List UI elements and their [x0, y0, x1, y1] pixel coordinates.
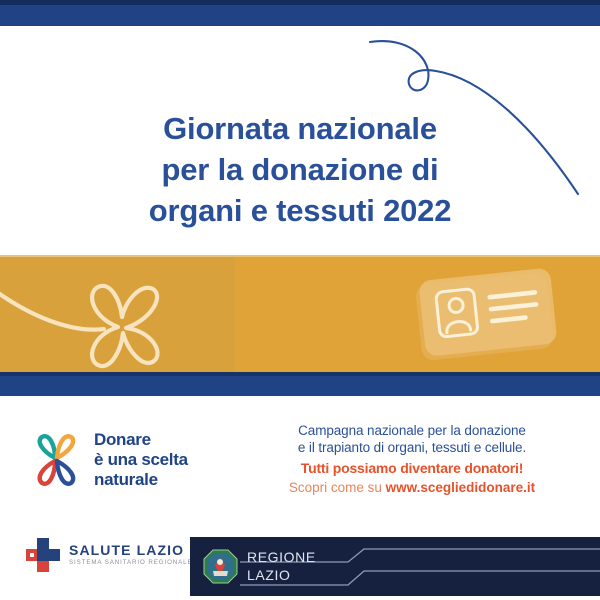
blue-band-shadow [0, 372, 600, 376]
title-line-1: Giornata nazionale [0, 108, 600, 149]
lower-section: Donare è una scelta naturale Campagna na… [0, 396, 600, 600]
campaign-cta-prefix: Scopri come su [289, 480, 386, 495]
regione-lazio-coat-of-arms-icon [203, 549, 238, 584]
donare-logo-lockup: Donare è una scelta naturale [28, 426, 243, 494]
medical-cross-icon [26, 538, 60, 572]
top-navy-rule [0, 0, 600, 26]
ribbon-tail-icon [0, 287, 104, 330]
campaign-copy: Campagna nazionale per la donazione e il… [262, 422, 562, 497]
salute-lazio-wordmark: SALUTE LAZIO SISTEMA SANITARIO REGIONALE [69, 543, 193, 566]
regione-line-1: REGIONE [247, 548, 316, 566]
page-title: Giornata nazionale per la donazione di o… [0, 108, 600, 232]
hero-section: Giornata nazionale per la donazione di o… [0, 26, 600, 255]
donare-line-1: Donare [94, 430, 188, 450]
donare-logo-wordmark: Donare è una scelta naturale [94, 430, 188, 490]
orange-graphic-band [0, 255, 600, 372]
donare-line-2: è una scelta [94, 450, 188, 470]
donare-line-3: naturale [94, 470, 188, 490]
salute-lazio-subtitle: SISTEMA SANITARIO REGIONALE [69, 560, 193, 566]
poster-canvas: Giornata nazionale per la donazione di o… [0, 0, 600, 600]
band-artwork [0, 255, 600, 372]
salute-lazio-logo: SALUTE LAZIO SISTEMA SANITARIO REGIONALE [26, 538, 193, 572]
regione-lazio-wordmark: REGIONE LAZIO [247, 548, 316, 585]
salute-lazio-title: SALUTE LAZIO [69, 543, 193, 557]
four-petal-ribbon-flower-icon [92, 286, 157, 366]
title-line-3: organi e tessuti 2022 [0, 190, 600, 231]
four-petal-flower-logo-icon [28, 431, 84, 489]
campaign-cta: Scopri come su www.scegliedidonare.it [262, 479, 562, 496]
top-rule-shadow [0, 0, 600, 5]
campaign-highlight: Tutti possiamo diventare donatori! [262, 460, 562, 478]
blue-separator-band [0, 372, 600, 396]
campaign-line-1: Campagna nazionale per la donazione [262, 422, 562, 439]
title-line-2: per la donazione di [0, 149, 600, 190]
regione-lazio-panel: REGIONE LAZIO [190, 537, 600, 596]
campaign-cta-url[interactable]: www.scegliedidonare.it [386, 480, 536, 495]
campaign-line-2: e il trapianto di organi, tessuti e cell… [262, 439, 562, 456]
donor-id-card-icon [414, 267, 558, 361]
regione-line-2: LAZIO [247, 566, 316, 584]
